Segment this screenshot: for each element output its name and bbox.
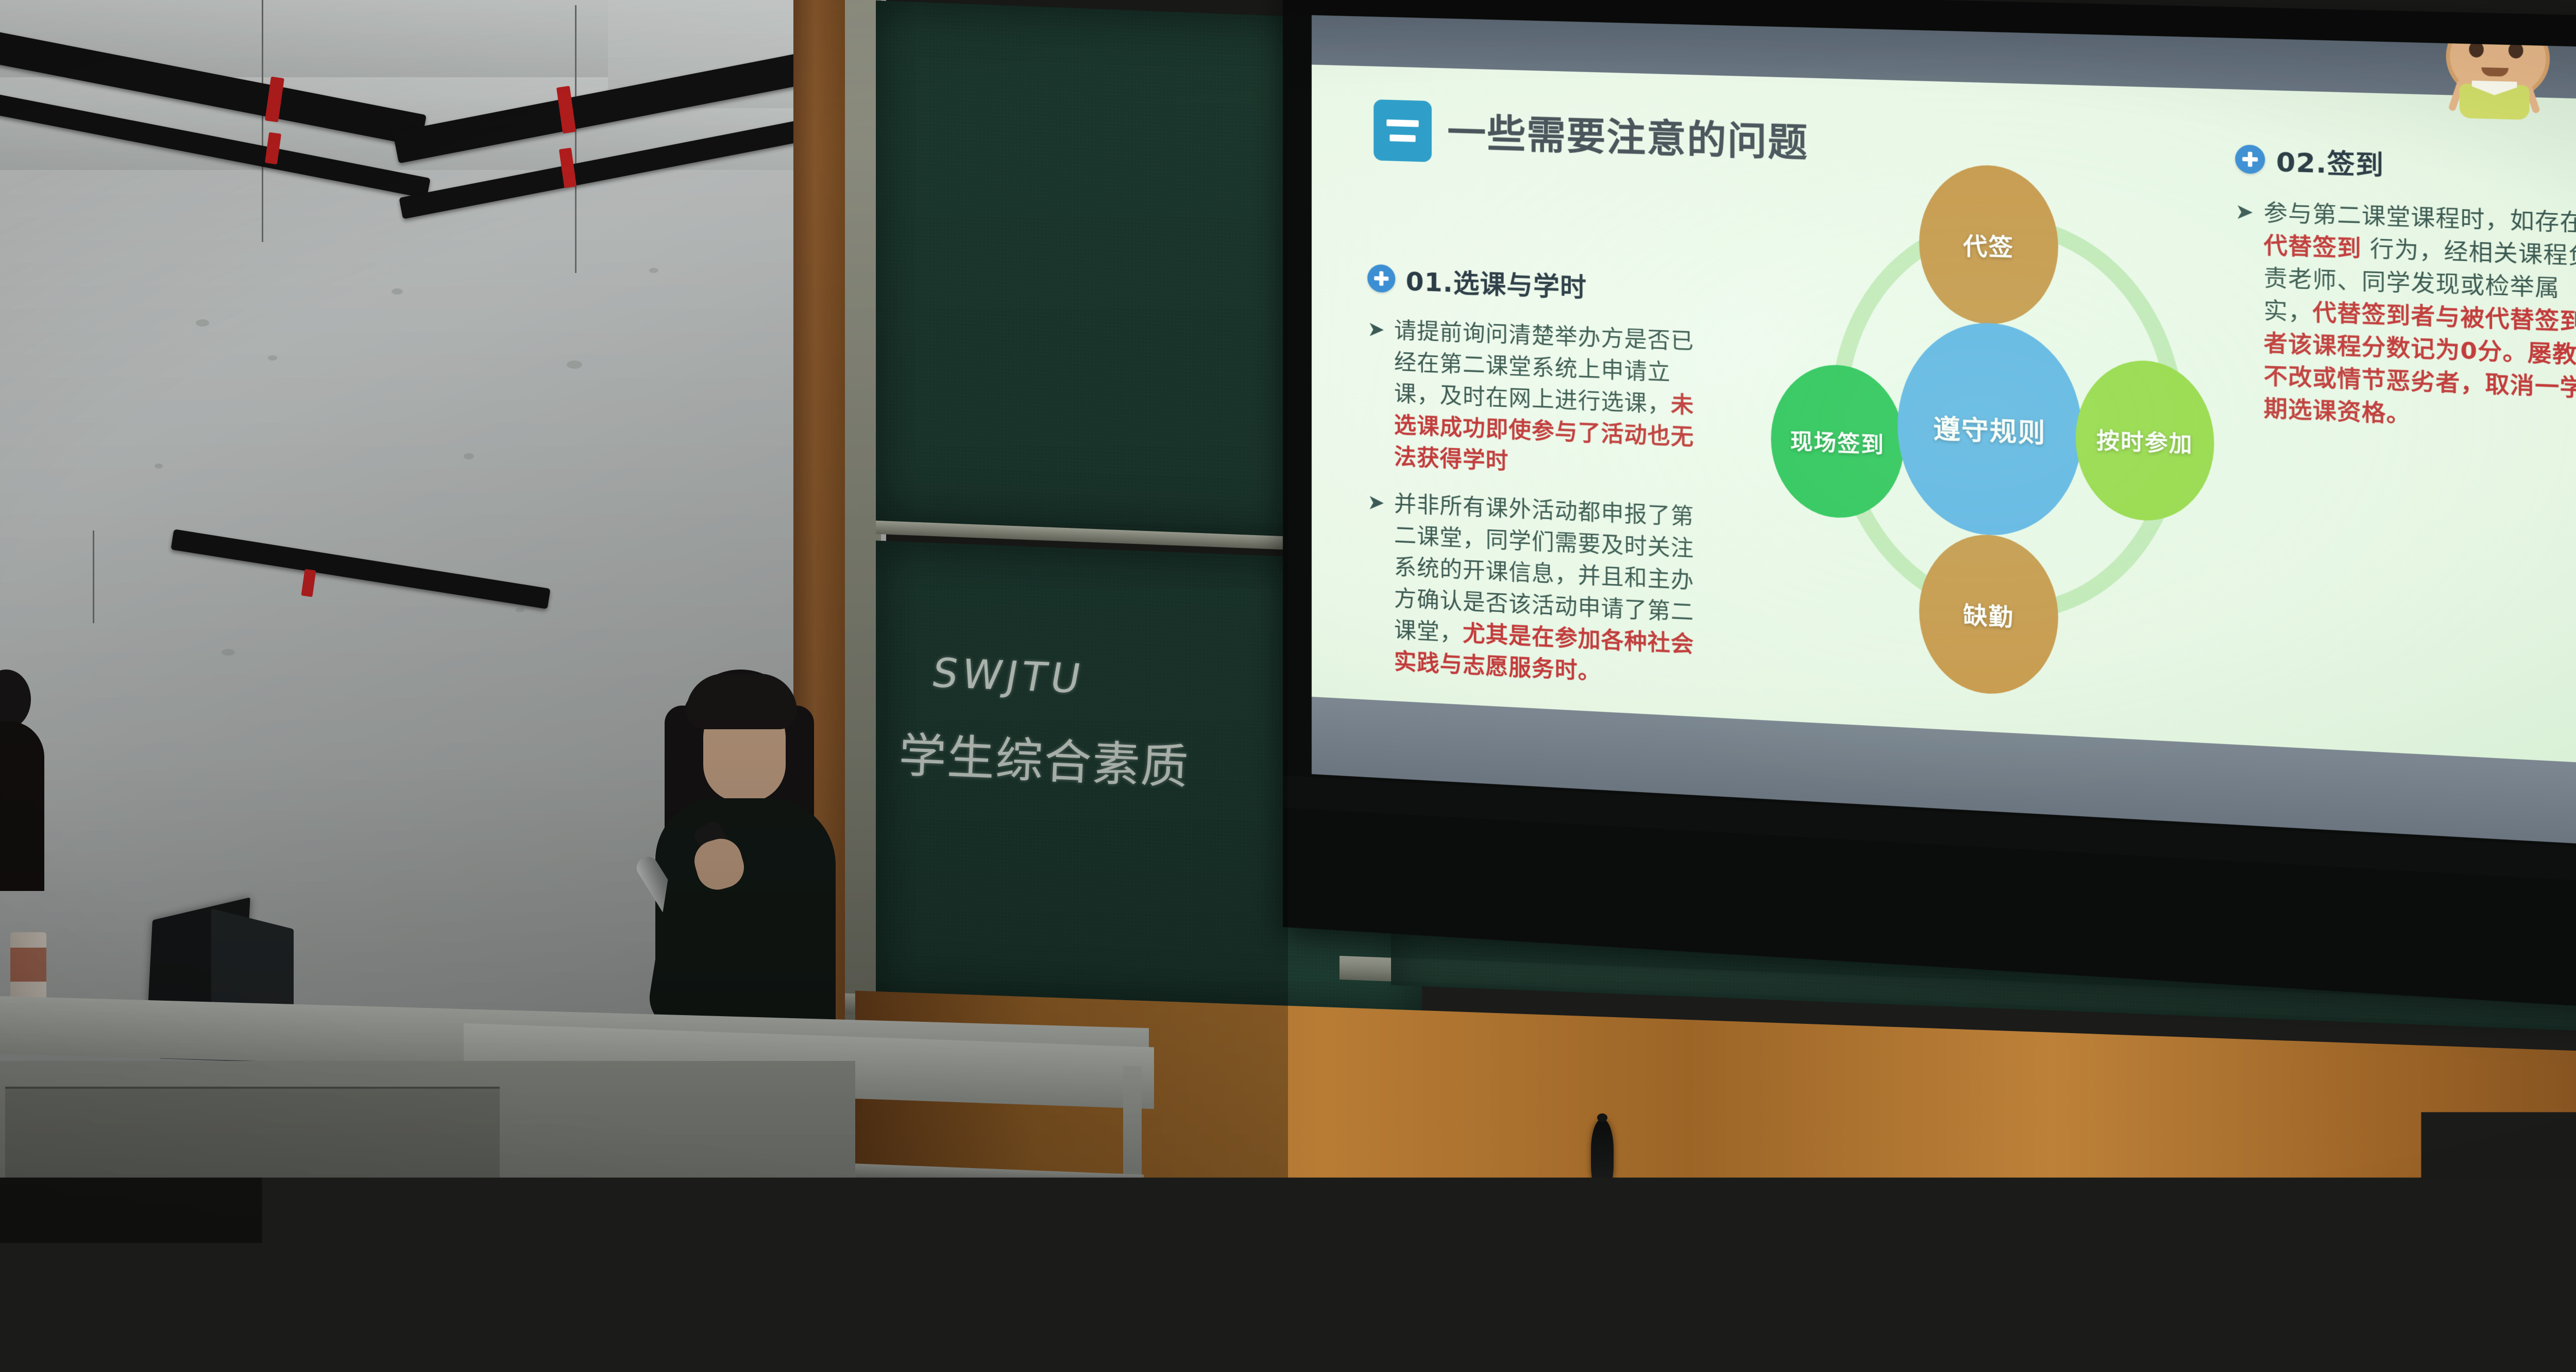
left-bullet-1-text: 请提前询问清楚举办方是否已经在第二课堂系统上申请立课，及时在网上进行选课， (1394, 318, 1694, 418)
chalk-text-line-1: SWJTU (928, 650, 1089, 702)
slide: 一些需要注意的问题 01 (1312, 15, 2576, 851)
right-column-heading: 02.签到 (2276, 141, 2384, 182)
screen-surface: 一些需要注意的问题 01 (1312, 15, 2576, 851)
slide-column-left: 01.选课与学时 ➤ 请提前询问清楚举办方是否已经在第二课堂系统上申请立课，及时… (1367, 260, 1708, 710)
lectern-shelf-edge (1123, 1066, 1142, 1246)
right-column-heading-row: 02.签到 (2235, 140, 2576, 189)
right-bullet-1-text-a: 参与第二课堂课程时，如存在 (2264, 200, 2576, 237)
left-bullet-2: ➤ 并非所有课外活动都申报了第二课堂，同学们需要及时关注系统的开课信息，并且和主… (1367, 487, 1708, 694)
equipment-cabinet[interactable] (5, 1087, 500, 1372)
cup-label (10, 948, 46, 982)
left-bullet-2-text: 并非所有课外活动都申报了第二课堂，同学们需要及时关注系统的开课信息，并且和主办方… (1394, 491, 1694, 647)
left-bullet-1: ➤ 请提前询问清楚举办方是否已经在第二课堂系统上申请立课，及时在网上进行选课，未… (1367, 314, 1708, 487)
slide-title: 一些需要注意的问题 (1447, 101, 1808, 168)
cabinet-lock-icon[interactable] (247, 1272, 259, 1291)
circle-diagram: 代签 现场签到 遵守规则 按时参加 缺勤 (1773, 137, 2208, 689)
wall-speaker-left (1591, 1119, 1614, 1196)
right-bullet-1: ➤ 参与第二课堂课程时，如存在 代替签到 行为，经相关课程负责老师、同学发现或检… (2235, 196, 2576, 439)
lecture-hall-photo: SWJTU 学生综合素质 (0, 0, 2576, 1372)
left-column-heading: 01.选课与学时 (1406, 261, 1587, 304)
plus-icon (1367, 264, 1395, 293)
plus-icon (2235, 144, 2265, 174)
left-column-heading-row: 01.选课与学时 (1367, 260, 1708, 309)
wall-speaker-right (2482, 1148, 2505, 1226)
arrow-bullet-icon: ➤ (2235, 196, 2253, 425)
chalk-text-line-2: 学生综合素质 (897, 717, 1191, 798)
section-badge-icon (1374, 99, 1432, 162)
slide-column-right: 02.签到 ➤ 参与第二课堂课程时，如存在 代替签到 行为，经相关课程负责老师、… (2235, 140, 2576, 455)
arrow-bullet-icon: ➤ (1367, 314, 1385, 473)
presenter (608, 670, 866, 1061)
right-bullet-1-emphasis-a: 代替签到 (2264, 232, 2362, 262)
projection-screen: 一些需要注意的问题 01 (1283, 0, 2576, 1016)
second-person (0, 670, 41, 891)
arrow-bullet-icon: ➤ (1367, 487, 1385, 677)
